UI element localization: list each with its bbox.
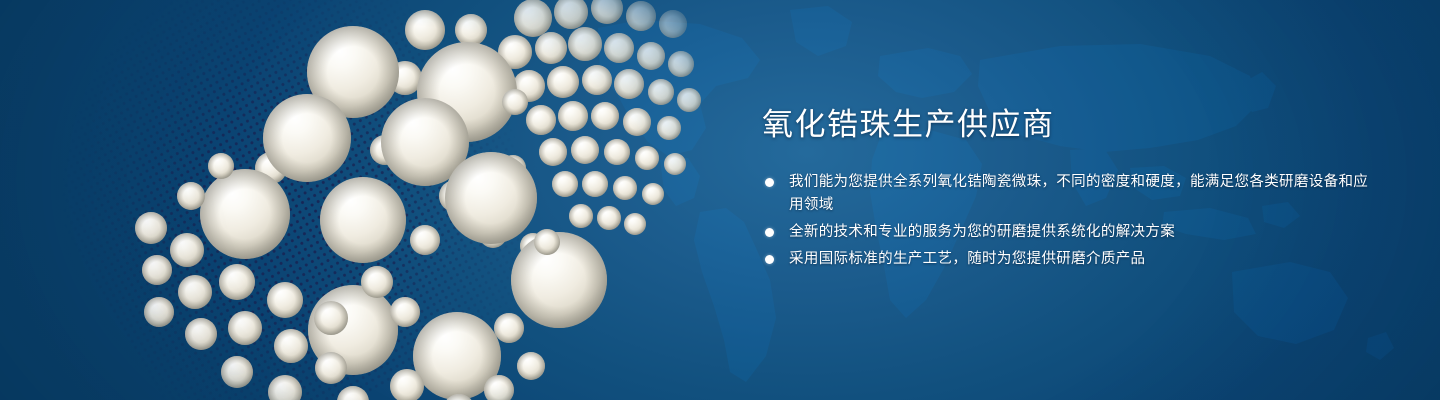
feature-list-item: 全新的技术和专业的服务为您的研磨提供系统化的解决方案 bbox=[762, 221, 1382, 244]
bead-cluster bbox=[95, 0, 755, 400]
feature-list: 我们能为您提供全系列氧化锆陶瓷微珠，不同的密度和硬度，能满足您各类研磨设备和应用… bbox=[762, 171, 1382, 271]
bullet-dot-icon bbox=[765, 255, 774, 264]
bullet-dot-icon bbox=[765, 178, 774, 187]
banner-content: 氧化锆珠生产供应商 我们能为您提供全系列氧化锆陶瓷微珠，不同的密度和硬度，能满足… bbox=[762, 108, 1382, 271]
hero-banner: 氧化锆珠生产供应商 我们能为您提供全系列氧化锆陶瓷微珠，不同的密度和硬度，能满足… bbox=[0, 0, 1440, 400]
feature-text: 采用国际标准的生产工艺，随时为您提供研磨介质产品 bbox=[789, 251, 1145, 267]
halftone-texture bbox=[0, 0, 609, 400]
feature-text: 我们能为您提供全系列氧化锆陶瓷微珠，不同的密度和硬度，能满足您各类研磨设备和应用… bbox=[789, 174, 1368, 213]
product-photo-zirconia-beads bbox=[95, 0, 755, 400]
bullet-dot-icon bbox=[765, 228, 774, 237]
banner-headline: 氧化锆珠生产供应商 bbox=[762, 108, 1382, 141]
feature-text: 全新的技术和专业的服务为您的研磨提供系统化的解决方案 bbox=[789, 224, 1175, 240]
feature-list-item: 采用国际标准的生产工艺，随时为您提供研磨介质产品 bbox=[762, 248, 1382, 271]
feature-list-item: 我们能为您提供全系列氧化锆陶瓷微珠，不同的密度和硬度，能满足您各类研磨设备和应用… bbox=[762, 171, 1382, 217]
